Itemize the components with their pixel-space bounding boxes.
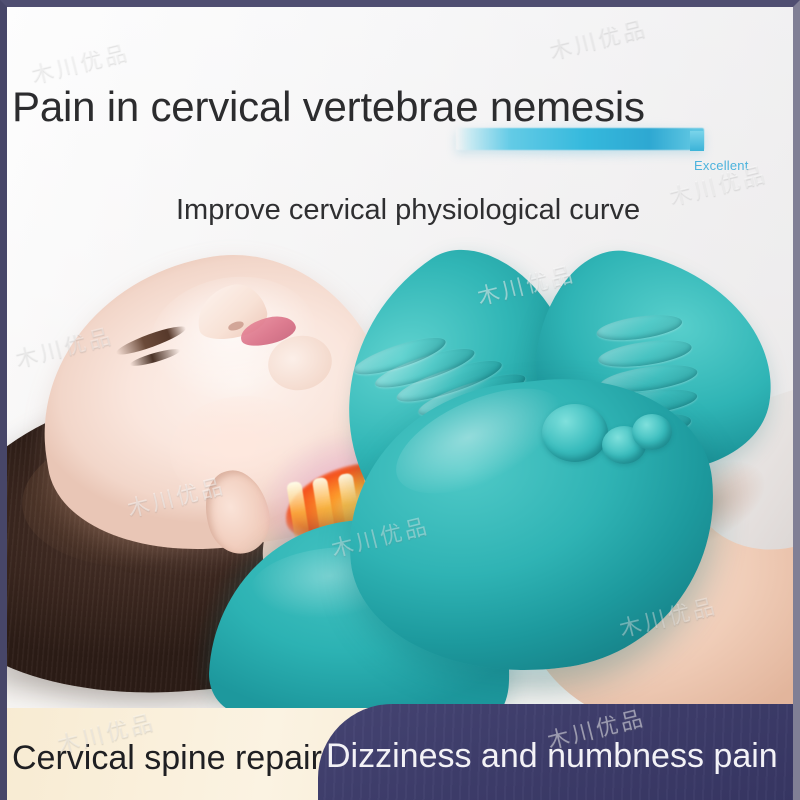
product-ad-image: Pain in cervical vertebrae nemesis Excel…	[0, 0, 800, 800]
acupressure-nub	[632, 414, 672, 450]
cervical-repair-label: Cervical spine repair	[12, 739, 322, 778]
dizziness-bar: Dizziness and numbness pain	[318, 704, 800, 800]
dizziness-label: Dizziness and numbness pain	[326, 737, 778, 776]
cyan-gradient-bar	[456, 128, 704, 150]
subtitle: Improve cervical physiological curve	[176, 194, 640, 227]
page-title: Pain in cervical vertebrae nemesis	[12, 84, 645, 130]
excellent-badge: Excellent	[694, 158, 749, 173]
cervical-traction-device	[330, 250, 760, 680]
cyan-bar-tip	[690, 131, 704, 151]
